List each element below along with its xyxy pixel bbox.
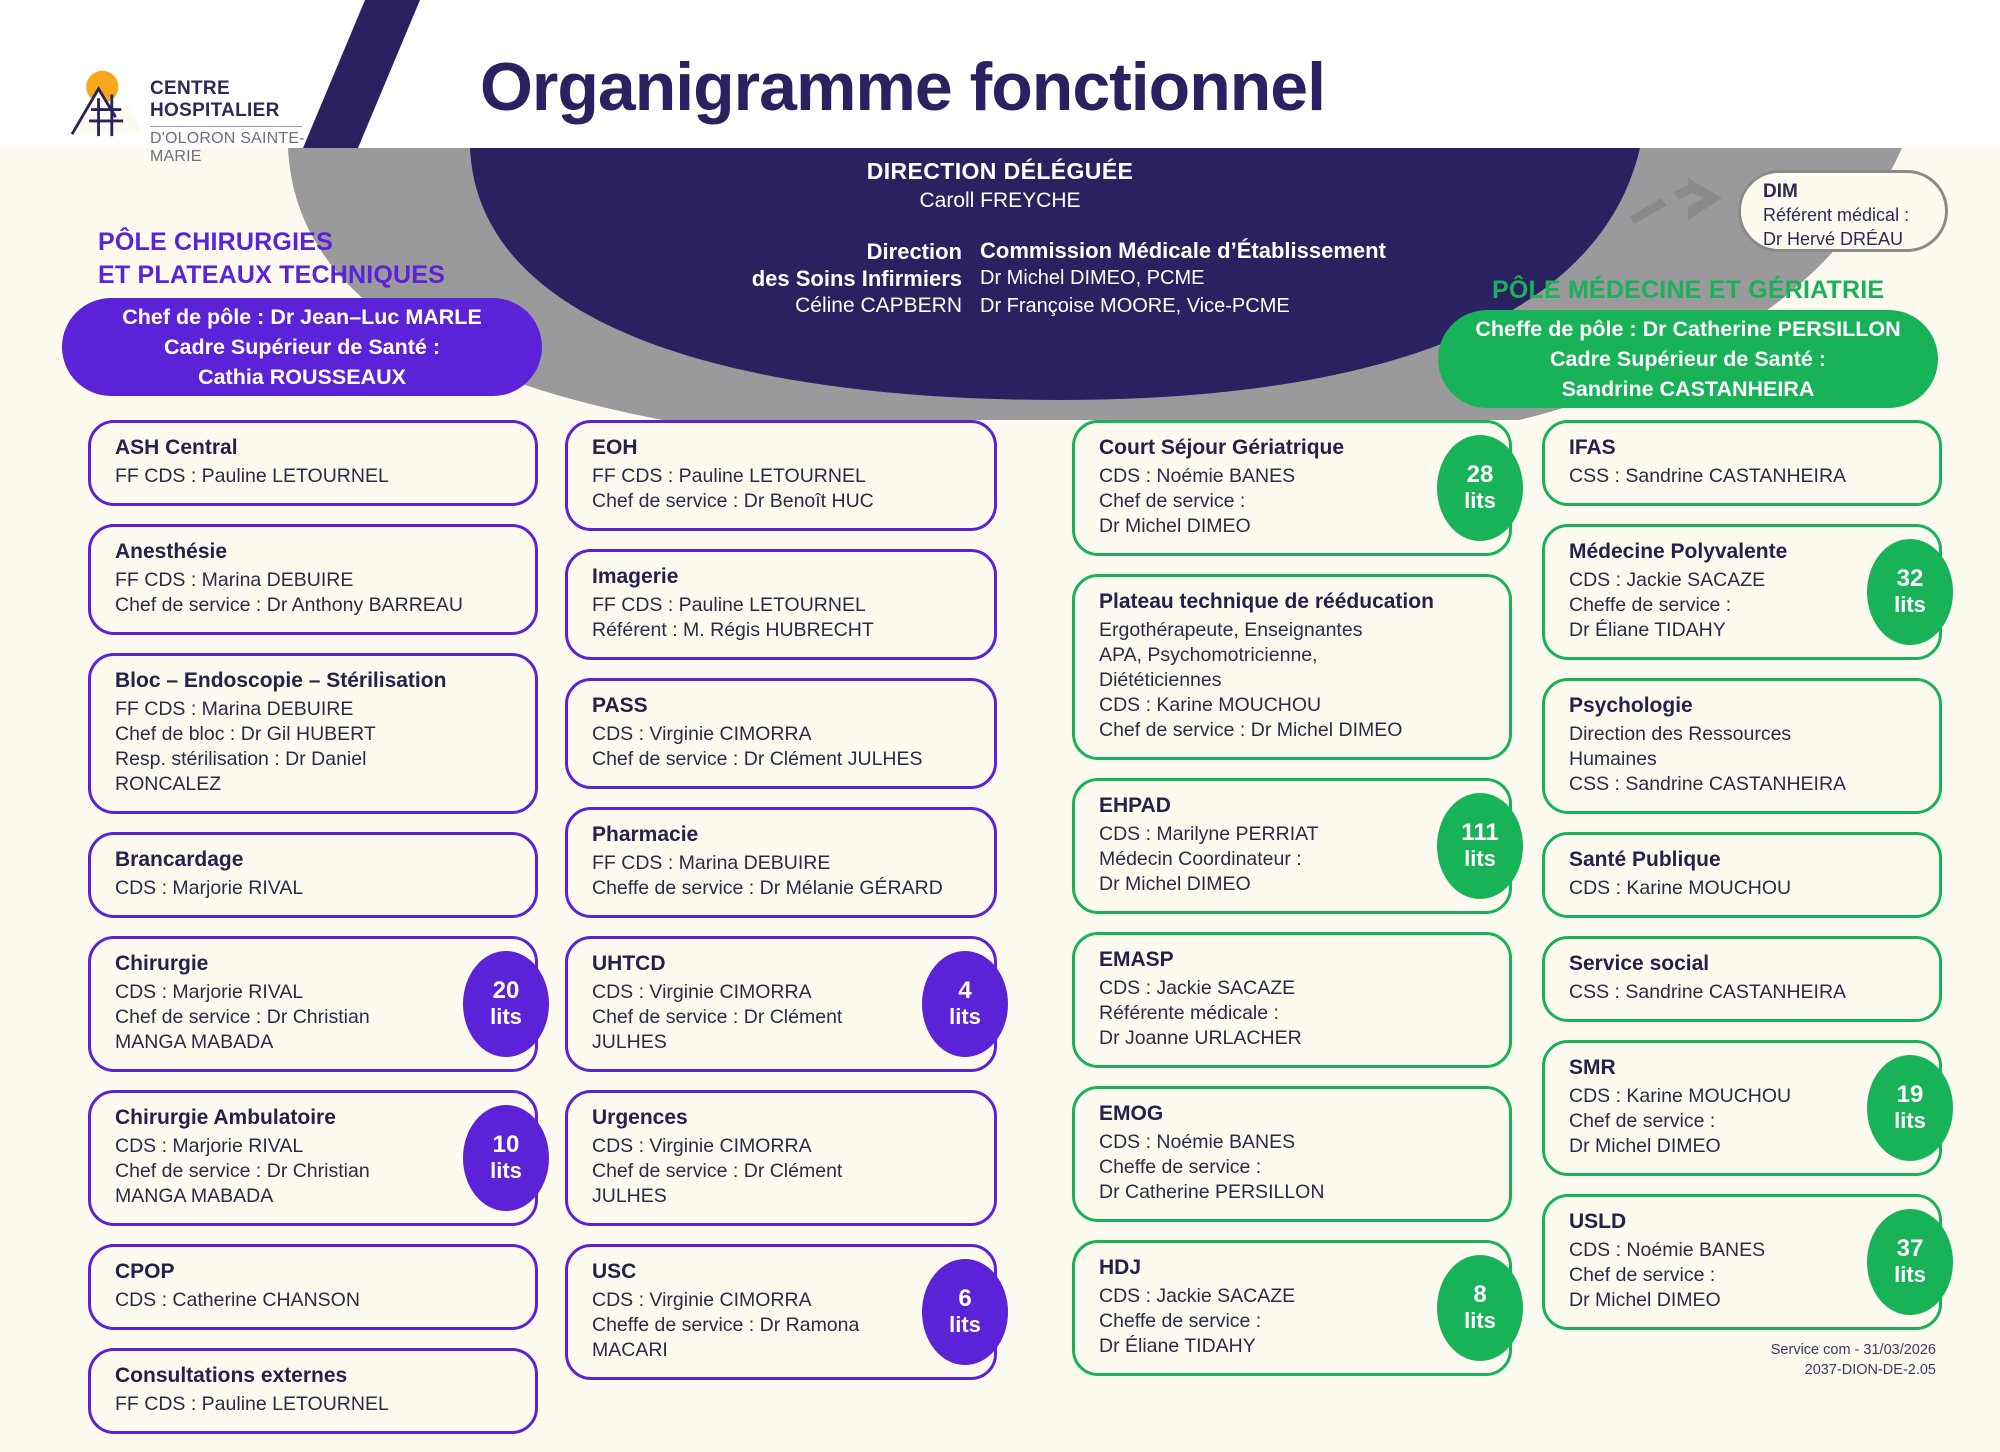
service-card: Court Séjour GériatriqueCDS : Noémie BAN… xyxy=(1072,420,1512,556)
service-card: EOHFF CDS : Pauline LETOURNELChef de ser… xyxy=(565,420,997,531)
service-card-title: Anesthésie xyxy=(115,539,517,565)
service-card-title: USC xyxy=(592,1259,902,1285)
service-card-line: CDS : Jackie SACAZE xyxy=(1569,568,1847,593)
service-card-line: JULHES xyxy=(592,1184,976,1209)
service-card-line: Humaines xyxy=(1569,747,1921,772)
service-card-line: CDS : Virginie CIMORRA xyxy=(592,1288,902,1313)
beds-badge: 10lits xyxy=(463,1105,549,1211)
beds-label: lits xyxy=(1894,1262,1926,1288)
beds-count: 32 xyxy=(1897,566,1924,592)
service-card: SMRCDS : Karine MOUCHOUChef de service :… xyxy=(1542,1040,1942,1176)
service-card-line: CDS : Catherine CHANSON xyxy=(115,1288,517,1313)
service-card: Service socialCSS : Sandrine CASTANHEIRA xyxy=(1542,936,1942,1022)
beds-badge: 111lits xyxy=(1437,793,1523,899)
service-card-line: MANGA MABADA xyxy=(115,1184,443,1209)
service-card-line: Chef de service : xyxy=(1569,1263,1847,1288)
service-card: ChirurgieCDS : Marjorie RIVALChef de ser… xyxy=(88,936,538,1072)
service-card-title: UHTCD xyxy=(592,951,902,977)
service-card: ASH CentralFF CDS : Pauline LETOURNEL xyxy=(88,420,538,506)
service-card-title: Bloc – Endoscopie – Stérilisation xyxy=(115,668,517,694)
beds-count: 20 xyxy=(493,978,520,1004)
service-card: IFASCSS : Sandrine CASTANHEIRA xyxy=(1542,420,1942,506)
service-card-title: Consultations externes xyxy=(115,1363,517,1389)
service-card-line: Diététiciennes xyxy=(1099,668,1491,693)
service-card: USLDCDS : Noémie BANESChef de service :D… xyxy=(1542,1194,1942,1330)
service-card-line: Référent : M. Régis HUBRECHT xyxy=(592,618,976,643)
service-card: UrgencesCDS : Virginie CIMORRAChef de se… xyxy=(565,1090,997,1226)
service-card: USCCDS : Virginie CIMORRACheffe de servi… xyxy=(565,1244,997,1380)
beds-count: 6 xyxy=(958,1286,971,1312)
service-card-line: CDS : Virginie CIMORRA xyxy=(592,722,976,747)
service-card: EMOGCDS : Noémie BANESCheffe de service … xyxy=(1072,1086,1512,1222)
commission-medicale-block: Commission Médicale d’Établissement Dr M… xyxy=(980,238,1386,320)
service-card: Médecine PolyvalenteCDS : Jackie SACAZEC… xyxy=(1542,524,1942,660)
logo-line1: CENTRE HOSPITALIER xyxy=(150,78,320,122)
mountain-sun-logo-icon xyxy=(70,66,146,138)
service-card: PsychologieDirection des RessourcesHumai… xyxy=(1542,678,1942,814)
beds-count: 111 xyxy=(1461,820,1498,846)
logo-divider xyxy=(150,126,302,127)
service-card: EMASPCDS : Jackie SACAZERéférente médica… xyxy=(1072,932,1512,1068)
service-card-line: CDS : Noémie BANES xyxy=(1099,464,1417,489)
pole-chirurgies-cadre-label: Cadre Supérieur de Santé : xyxy=(62,332,542,362)
grey-band-row: Direction des Soins Infirmiers Céline CA… xyxy=(0,238,2000,334)
service-card: Bloc – Endoscopie – StérilisationFF CDS … xyxy=(88,653,538,814)
service-card: Consultations externesFF CDS : Pauline L… xyxy=(88,1348,538,1434)
service-card-title: Urgences xyxy=(592,1105,976,1131)
service-card: Santé PubliqueCDS : Karine MOUCHOU xyxy=(1542,832,1942,918)
service-card-title: Chirurgie Ambulatoire xyxy=(115,1105,443,1131)
footer-line-1: Service com - 31/03/2026 xyxy=(1771,1340,1936,1360)
service-card-line: FF CDS : Pauline LETOURNEL xyxy=(115,464,517,489)
service-card-line: CSS : Sandrine CASTANHEIRA xyxy=(1569,464,1921,489)
service-card-line: RONCALEZ xyxy=(115,772,517,797)
service-card-line: FF CDS : Marina DEBUIRE xyxy=(115,568,517,593)
service-card-title: IFAS xyxy=(1569,435,1921,461)
service-card-line: Cheffe de service : xyxy=(1099,1155,1491,1180)
service-card-title: EMOG xyxy=(1099,1101,1491,1127)
service-card-line: CDS : Jackie SACAZE xyxy=(1099,1284,1417,1309)
beds-label: lits xyxy=(490,1004,522,1030)
service-card-title: HDJ xyxy=(1099,1255,1417,1281)
service-card-line: JULHES xyxy=(592,1030,902,1055)
service-card-line: CDS : Noémie BANES xyxy=(1099,1130,1491,1155)
pole-medecine-cadre-name: Sandrine CASTANHEIRA xyxy=(1438,374,1938,404)
service-card-line: CDS : Virginie CIMORRA xyxy=(592,1134,976,1159)
service-card-line: Chef de service : Dr Benoît HUC xyxy=(592,489,976,514)
service-card-title: Psychologie xyxy=(1569,693,1921,719)
service-card-line: Chef de service : Dr Clément xyxy=(592,1159,976,1184)
hospital-logo: CENTRE HOSPITALIER D'OLORON SAINTE-MARIE xyxy=(70,62,320,142)
service-card-line: Dr Joanne URLACHER xyxy=(1099,1026,1491,1051)
service-card-line: FF CDS : Pauline LETOURNEL xyxy=(592,464,976,489)
service-card-line: Chef de service : Dr Michel DIMEO xyxy=(1099,718,1491,743)
service-card: ImagerieFF CDS : Pauline LETOURNELRéfére… xyxy=(565,549,997,660)
service-card: Chirurgie AmbulatoireCDS : Marjorie RIVA… xyxy=(88,1090,538,1226)
beds-label: lits xyxy=(490,1158,522,1184)
logo-line2: D'OLORON SAINTE-MARIE xyxy=(150,130,320,166)
beds-count: 8 xyxy=(1473,1282,1486,1308)
service-card: CPOPCDS : Catherine CHANSON xyxy=(88,1244,538,1330)
beds-label: lits xyxy=(1894,592,1926,618)
service-card: Plateau technique de rééducationErgothér… xyxy=(1072,574,1512,760)
service-card-line: Chef de service : Dr Anthony BARREAU xyxy=(115,593,517,618)
beds-badge: 28lits xyxy=(1437,435,1523,541)
beds-label: lits xyxy=(1464,1308,1496,1334)
service-card-title: Santé Publique xyxy=(1569,847,1921,873)
column-medecine-2: IFASCSS : Sandrine CASTANHEIRAMédecine P… xyxy=(1542,420,1942,1348)
service-card-title: Service social xyxy=(1569,951,1921,977)
service-card-title: ASH Central xyxy=(115,435,517,461)
cme-title: Commission Médicale d’Établissement xyxy=(980,238,1386,264)
beds-label: lits xyxy=(1464,488,1496,514)
service-card-title: Pharmacie xyxy=(592,822,976,848)
service-card-title: SMR xyxy=(1569,1055,1847,1081)
column-medecine-1: Court Séjour GériatriqueCDS : Noémie BAN… xyxy=(1072,420,1512,1394)
dim-line-2: Dr Hervé DRÉAU xyxy=(1763,227,1945,251)
service-card-line: Référente médicale : xyxy=(1099,1001,1491,1026)
service-card-line: CDS : Marjorie RIVAL xyxy=(115,1134,443,1159)
beds-badge: 19lits xyxy=(1867,1055,1953,1161)
service-card-line: Dr Michel DIMEO xyxy=(1099,514,1417,539)
service-card-line: Cheffe de service : xyxy=(1099,1309,1417,1334)
service-card-title: EOH xyxy=(592,435,976,461)
pole-medecine-cadre-label: Cadre Supérieur de Santé : xyxy=(1438,344,1938,374)
service-card-line: Chef de service : Dr Clément xyxy=(592,1005,902,1030)
page-title: Organigramme fonctionnel xyxy=(480,48,1325,126)
direction-deleguee-name: Caroll FREYCHE xyxy=(700,189,1300,213)
service-card-line: APA, Psychomotricienne, xyxy=(1099,643,1491,668)
service-card: PASSCDS : Virginie CIMORRAChef de servic… xyxy=(565,678,997,789)
service-card-line: CDS : Marjorie RIVAL xyxy=(115,876,517,901)
service-card: EHPADCDS : Marilyne PERRIATMédecin Coord… xyxy=(1072,778,1512,914)
service-card-line: CDS : Jackie SACAZE xyxy=(1099,976,1491,1001)
cme-member-1: Dr Michel DIMEO, PCME xyxy=(980,264,1386,292)
beds-badge: 4lits xyxy=(922,951,1008,1057)
beds-label: lits xyxy=(1464,846,1496,872)
dim-title: DIM xyxy=(1763,181,1945,203)
beds-label: lits xyxy=(949,1004,981,1030)
pole-chirurgies-cadre-name: Cathia ROUSSEAUX xyxy=(62,362,542,392)
service-card-line: Chef de service : Dr Christian xyxy=(115,1159,443,1184)
direction-deleguee-block: DIRECTION DÉLÉGUÉE Caroll FREYCHE xyxy=(700,158,1300,213)
dim-line-1: Référent médical : xyxy=(1763,203,1945,227)
service-card-title: Médecine Polyvalente xyxy=(1569,539,1847,565)
column-chirurgies-1: ASH CentralFF CDS : Pauline LETOURNELAne… xyxy=(88,420,538,1452)
service-card-line: CSS : Sandrine CASTANHEIRA xyxy=(1569,980,1921,1005)
service-card-line: Direction des Ressources xyxy=(1569,722,1921,747)
service-card-title: CPOP xyxy=(115,1259,517,1285)
dim-box: DIM Référent médical : Dr Hervé DRÉAU xyxy=(1738,170,1948,252)
service-card-title: Plateau technique de rééducation xyxy=(1099,589,1491,615)
service-card-line: Médecin Coordinateur : xyxy=(1099,847,1417,872)
service-card-line: CDS : Marilyne PERRIAT xyxy=(1099,822,1417,847)
service-card-title: EMASP xyxy=(1099,947,1491,973)
beds-badge: 8lits xyxy=(1437,1255,1523,1361)
service-card: UHTCDCDS : Virginie CIMORRAChef de servi… xyxy=(565,936,997,1072)
service-card-title: Chirurgie xyxy=(115,951,443,977)
beds-label: lits xyxy=(949,1312,981,1338)
beds-badge: 6lits xyxy=(922,1259,1008,1365)
service-card: AnesthésieFF CDS : Marina DEBUIREChef de… xyxy=(88,524,538,635)
service-card-line: CDS : Karine MOUCHOU xyxy=(1099,693,1491,718)
beds-badge: 37lits xyxy=(1867,1209,1953,1315)
service-card-line: MACARI xyxy=(592,1338,902,1363)
service-card-line: FF CDS : Marina DEBUIRE xyxy=(592,851,976,876)
dsi-line2: des Soins Infirmiers xyxy=(700,265,962,292)
service-card-line: Chef de bloc : Dr Gil HUBERT xyxy=(115,722,517,747)
service-card-line: FF CDS : Pauline LETOURNEL xyxy=(115,1392,517,1417)
service-card-title: PASS xyxy=(592,693,976,719)
service-card-line: Chef de service : Dr Clément JULHES xyxy=(592,747,976,772)
service-card-line: Dr Éliane TIDAHY xyxy=(1569,618,1847,643)
service-card-line: Chef de service : xyxy=(1569,1109,1847,1134)
service-card-line: FF CDS : Marina DEBUIRE xyxy=(115,697,517,722)
service-card-title: Imagerie xyxy=(592,564,976,590)
service-card-line: Chef de service : Dr Christian xyxy=(115,1005,443,1030)
beds-label: lits xyxy=(1894,1108,1926,1134)
service-card-line: Cheffe de service : Dr Ramona xyxy=(592,1313,902,1338)
direction-deleguee-title: DIRECTION DÉLÉGUÉE xyxy=(700,158,1300,185)
direction-soins-infirmiers-block: Direction des Soins Infirmiers Céline CA… xyxy=(700,238,962,318)
dsi-name: Céline CAPBERN xyxy=(700,294,962,318)
service-card-line: Dr Catherine PERSILLON xyxy=(1099,1180,1491,1205)
service-card-line: CDS : Virginie CIMORRA xyxy=(592,980,902,1005)
service-card: PharmacieFF CDS : Marina DEBUIRECheffe d… xyxy=(565,807,997,918)
service-card-line: Dr Michel DIMEO xyxy=(1569,1288,1847,1313)
service-card-line: CSS : Sandrine CASTANHEIRA xyxy=(1569,772,1921,797)
service-card-title: Court Séjour Gériatrique xyxy=(1099,435,1417,461)
service-card-line: Dr Michel DIMEO xyxy=(1099,872,1417,897)
service-card-title: EHPAD xyxy=(1099,793,1417,819)
service-card-line: CDS : Noémie BANES xyxy=(1569,1238,1847,1263)
service-card-line: CDS : Marjorie RIVAL xyxy=(115,980,443,1005)
footer-line-2: 2037-DION-DE-2.05 xyxy=(1771,1360,1936,1380)
service-card-title: USLD xyxy=(1569,1209,1847,1235)
service-card-line: Ergothérapeute, Enseignantes xyxy=(1099,618,1491,643)
service-card-line: Dr Michel DIMEO xyxy=(1569,1134,1847,1159)
service-card-line: Chef de service : xyxy=(1099,489,1417,514)
service-card: BrancardageCDS : Marjorie RIVAL xyxy=(88,832,538,918)
service-card: HDJCDS : Jackie SACAZECheffe de service … xyxy=(1072,1240,1512,1376)
beds-count: 19 xyxy=(1897,1082,1924,1108)
beds-badge: 32lits xyxy=(1867,539,1953,645)
service-card-line: Cheffe de service : Dr Mélanie GÉRARD xyxy=(592,876,976,901)
dim-dashed-arrow-icon xyxy=(1630,176,1750,246)
dsi-line1: Direction xyxy=(700,238,962,265)
service-card-line: Cheffe de service : xyxy=(1569,593,1847,618)
beds-badge: 20lits xyxy=(463,951,549,1057)
beds-count: 28 xyxy=(1467,462,1494,488)
column-chirurgies-2: EOHFF CDS : Pauline LETOURNELChef de ser… xyxy=(565,420,997,1398)
service-card-title: Brancardage xyxy=(115,847,517,873)
cme-member-2: Dr Françoise MOORE, Vice-PCME xyxy=(980,292,1386,320)
service-card-line: CDS : Karine MOUCHOU xyxy=(1569,1084,1847,1109)
service-card-line: Dr Éliane TIDAHY xyxy=(1099,1334,1417,1359)
service-card-line: CDS : Karine MOUCHOU xyxy=(1569,876,1921,901)
beds-count: 10 xyxy=(493,1132,520,1158)
beds-count: 37 xyxy=(1897,1236,1924,1262)
service-card-line: MANGA MABADA xyxy=(115,1030,443,1055)
footer-credits: Service com - 31/03/2026 2037-DION-DE-2.… xyxy=(1771,1340,1936,1380)
service-card-line: Resp. stérilisation : Dr Daniel xyxy=(115,747,517,772)
service-card-line: FF CDS : Pauline LETOURNEL xyxy=(592,593,976,618)
beds-count: 4 xyxy=(958,978,971,1004)
